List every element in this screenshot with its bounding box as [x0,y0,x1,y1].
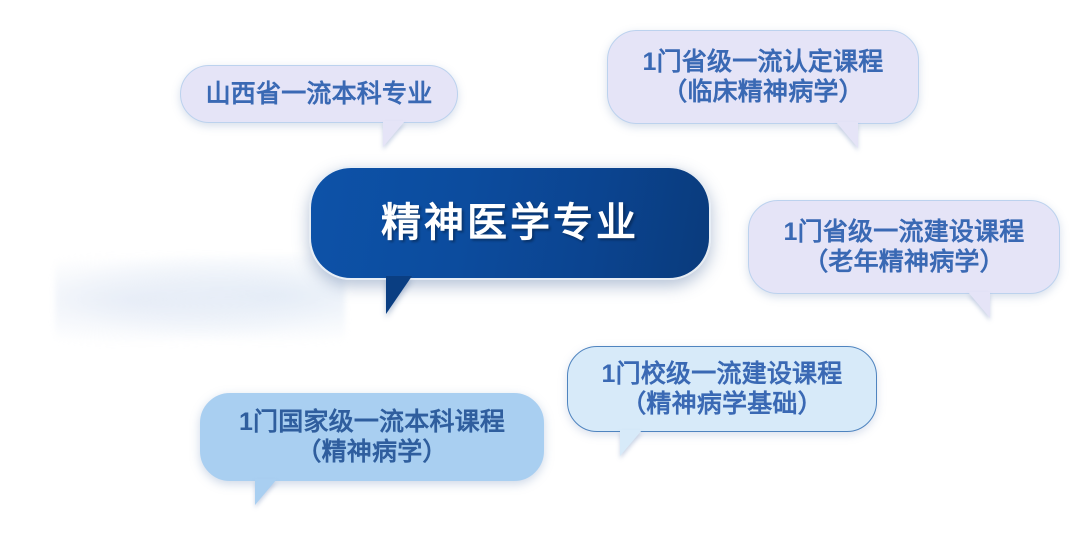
bubble-top-right-tail [836,122,858,148]
bubble-top-left[interactable]: 山西省一流本科专业 [180,65,458,123]
bubble-top-right[interactable]: 1门省级一流认定课程 （临床精神病学） [607,30,919,124]
bubble-top-left-label: 山西省一流本科专业 [206,79,433,110]
bubble-right-label: 1门省级一流建设课程 （老年精神病学） [784,217,1025,278]
bubble-bottom-left-label: 1门国家级一流本科课程 （精神病学） [239,407,505,468]
bubble-bottom-left-tail [255,479,277,505]
bubble-top-left-tail [383,121,405,147]
bubble-bottom-middle-tail [620,430,642,456]
infographic-canvas: 山西省一流本科专业 1门省级一流认定课程 （临床精神病学） 1门省级一流建设课程… [0,0,1092,536]
center-bubble[interactable]: 精神医学专业 [309,166,711,280]
bubble-bottom-left[interactable]: 1门国家级一流本科课程 （精神病学） [200,393,544,481]
bubble-top-right-label: 1门省级一流认定课程 （临床精神病学） [643,47,884,108]
bubble-bottom-middle[interactable]: 1门校级一流建设课程 （精神病学基础） [567,346,877,432]
center-bubble-label: 精神医学专业 [381,199,639,248]
bubble-bottom-middle-label: 1门校级一流建设课程 （精神病学基础） [602,359,843,420]
bubble-right-tail [968,292,990,318]
center-bubble-tail [386,276,412,314]
background-watermark [55,255,345,345]
bubble-right[interactable]: 1门省级一流建设课程 （老年精神病学） [748,200,1060,294]
